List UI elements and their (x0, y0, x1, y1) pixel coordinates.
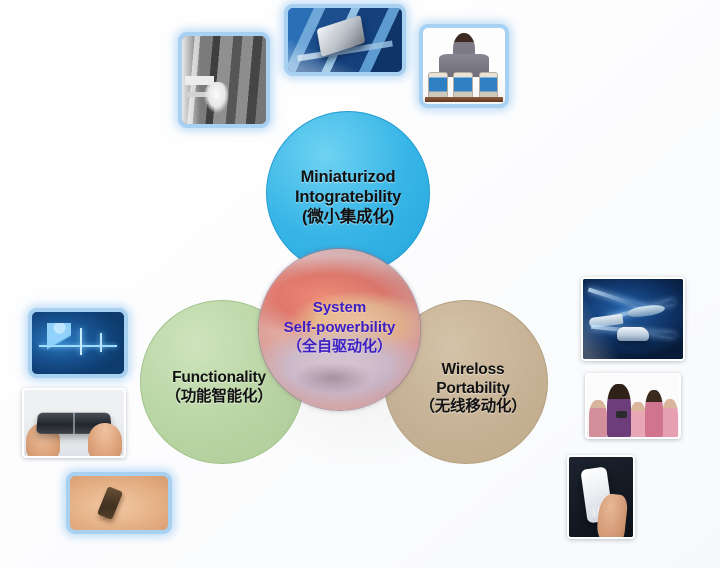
photo-phone-image (569, 457, 633, 537)
venn-circle-center-self-powerbility[interactable]: System Self-powerbility （全自驱动化） (258, 248, 421, 411)
photo-group-person-3 (630, 402, 646, 437)
photo-chip (284, 4, 406, 76)
photo-ecg-spike-1 (80, 328, 82, 355)
venn-label-system-self-powerbility: System Self-powerbility （全自驱动化） (259, 249, 420, 410)
venn-label-miniaturized-integratebility: Miniaturizod Intogratebility (微小集成化) (289, 167, 407, 227)
photo-crt (419, 24, 509, 108)
photo-crt-image (423, 28, 505, 104)
photo-flex (22, 388, 126, 458)
photo-ecg (28, 308, 128, 378)
venn-label-wireless-portability: Wireloss Portability （无线移动化） (413, 361, 532, 418)
photo-crt-desk (425, 97, 504, 102)
photo-chip-image (288, 8, 402, 72)
photo-ecg-spike-2 (100, 333, 102, 352)
photo-skin (66, 472, 172, 534)
diagram-canvas: Functionality （功能智能化） Wireloss Portabili… (0, 0, 720, 568)
photo-group-phone (616, 411, 627, 418)
photo-flex-image (24, 390, 124, 456)
photo-flex-hand-right (88, 423, 122, 458)
photo-transport (581, 277, 685, 361)
photo-mainframe (178, 32, 270, 128)
photo-group-image (587, 375, 679, 437)
photo-transport-car (617, 327, 649, 341)
photo-ecg-runner (47, 323, 71, 361)
photo-transport-image (583, 279, 683, 359)
photo-group-person-5 (662, 399, 679, 437)
photo-mainframe-image (182, 36, 266, 124)
photo-crt-monitor-1 (428, 72, 448, 99)
photo-ecg-image (32, 312, 124, 374)
photo-crt-monitor-3 (479, 72, 499, 99)
photo-group (585, 373, 681, 439)
photo-group-person-1 (589, 400, 607, 437)
photo-ecg-baseline (39, 345, 116, 347)
photo-crt-monitor-2 (453, 72, 473, 99)
photo-skin-image (70, 476, 168, 530)
photo-phone (567, 455, 635, 539)
photo-group-person-4 (645, 390, 663, 437)
